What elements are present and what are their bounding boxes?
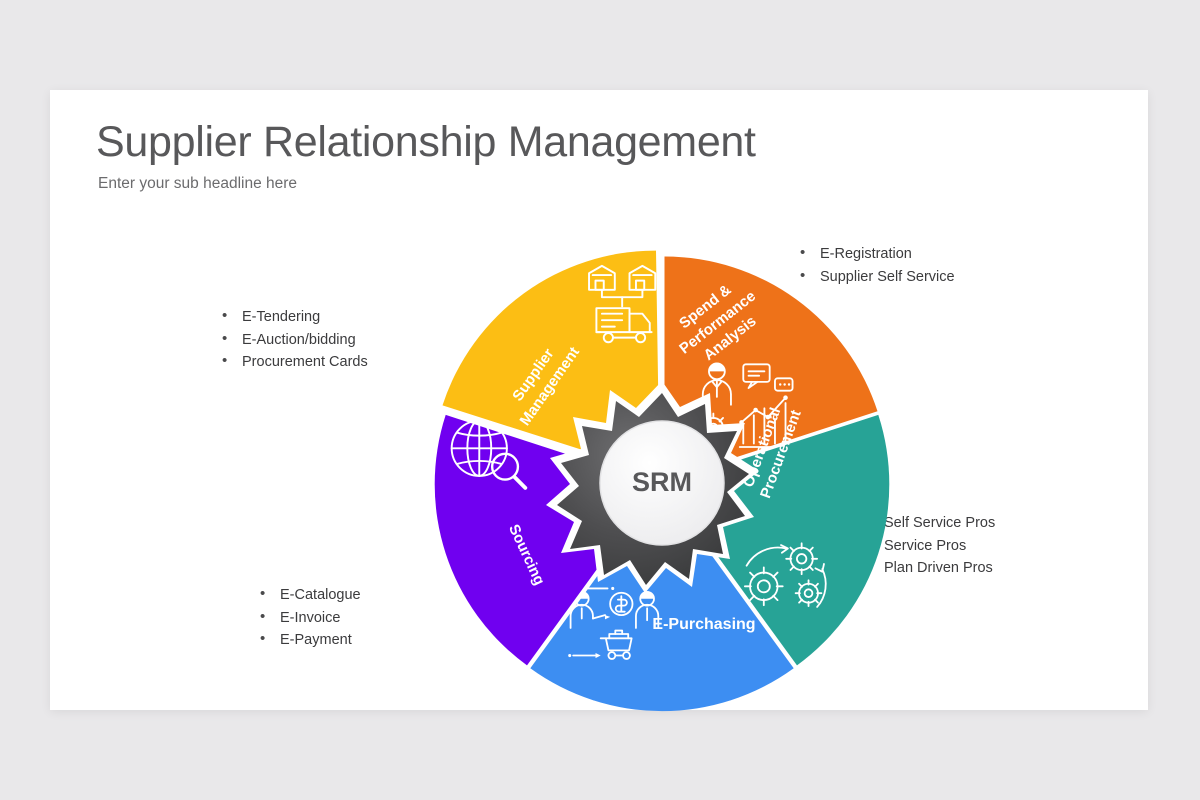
srm-wheel-diagram: Supplier Management bbox=[382, 203, 942, 763]
list-item: E-Auction/bidding bbox=[220, 331, 368, 350]
hub-label: SRM bbox=[632, 467, 692, 497]
list-item: E-Catalogue bbox=[258, 586, 361, 605]
bullet-list: E-Catalogue E-Invoice E-Payment bbox=[258, 586, 361, 650]
bullet-list: E-Tendering E-Auction/bidding Procuremen… bbox=[220, 308, 368, 372]
page-subtitle: Enter your sub headline here bbox=[98, 175, 297, 193]
list-item: E-Payment bbox=[258, 631, 361, 650]
list-item: E-Tendering bbox=[220, 308, 368, 327]
segment-label-line1: E-Purchasing bbox=[652, 616, 755, 633]
slide-canvas: Supplier Relationship Management Enter y… bbox=[50, 90, 1148, 710]
list-item: Procurement Cards bbox=[220, 353, 368, 372]
page-title: Supplier Relationship Management bbox=[96, 118, 756, 167]
list-item: E-Invoice bbox=[258, 609, 361, 628]
callout-supplier-management: E-Tendering E-Auction/bidding Procuremen… bbox=[220, 308, 368, 376]
callout-sourcing: E-Catalogue E-Invoice E-Payment bbox=[258, 586, 361, 654]
